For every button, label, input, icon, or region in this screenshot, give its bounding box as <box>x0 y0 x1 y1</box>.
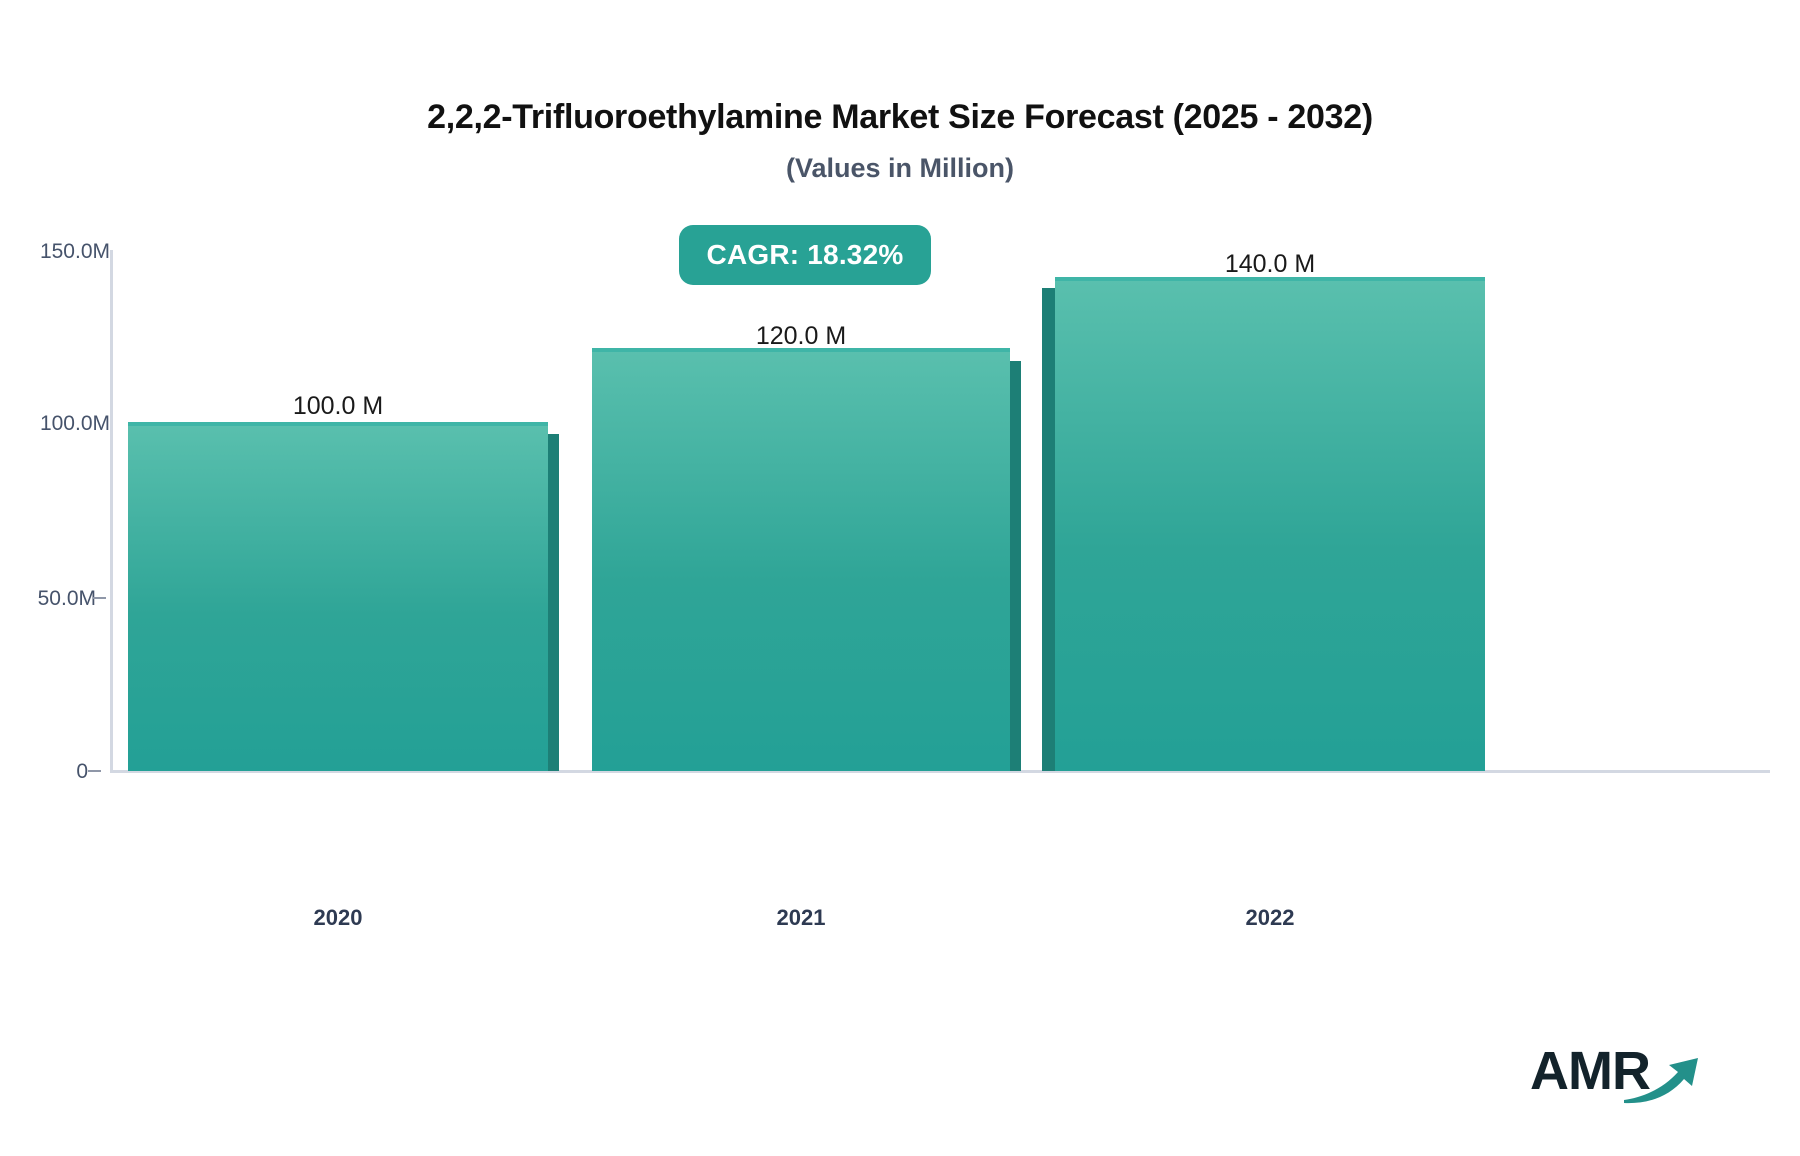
y-axis-tick-label-150: 150.0M <box>40 240 110 264</box>
x-axis-label-2022: 2022 <box>1055 905 1485 931</box>
bar-2022-value-label: 140.0 M <box>1055 250 1485 279</box>
chart-canvas: 2,2,2-Trifluoroethylamine Market Size Fo… <box>0 0 1800 1156</box>
x-axis-label-2020: 2020 <box>128 905 548 931</box>
bar-2020[interactable] <box>128 422 548 771</box>
y-axis-tick-label-50: 50.0M <box>38 587 96 611</box>
y-axis-tick-label-0: 0 <box>76 760 88 784</box>
y-axis-tick-mark-50 <box>93 597 106 599</box>
y-axis-line <box>110 250 113 772</box>
growth-arrow-icon <box>1622 1054 1702 1104</box>
chart-subtitle: (Values in Million) <box>0 151 1800 185</box>
bar-2021[interactable] <box>592 348 1010 771</box>
cagr-badge: CAGR: 18.32% <box>679 225 931 285</box>
chart-title: 2,2,2-Trifluoroethylamine Market Size Fo… <box>0 95 1800 139</box>
bar-2022[interactable] <box>1055 277 1485 771</box>
amr-logo: AMR <box>1530 1040 1700 1110</box>
y-axis-tick-label-100: 100.0M <box>40 412 110 436</box>
x-axis-label-2021: 2021 <box>592 905 1010 931</box>
title-block: 2,2,2-Trifluoroethylamine Market Size Fo… <box>0 95 1800 185</box>
bar-2021-value-label: 120.0 M <box>592 322 1010 351</box>
y-axis-tick-mark-0 <box>88 770 101 772</box>
bar-2020-value-label: 100.0 M <box>128 392 548 421</box>
bar-2020-top <box>128 422 548 426</box>
bar-2022-side <box>1042 288 1056 771</box>
